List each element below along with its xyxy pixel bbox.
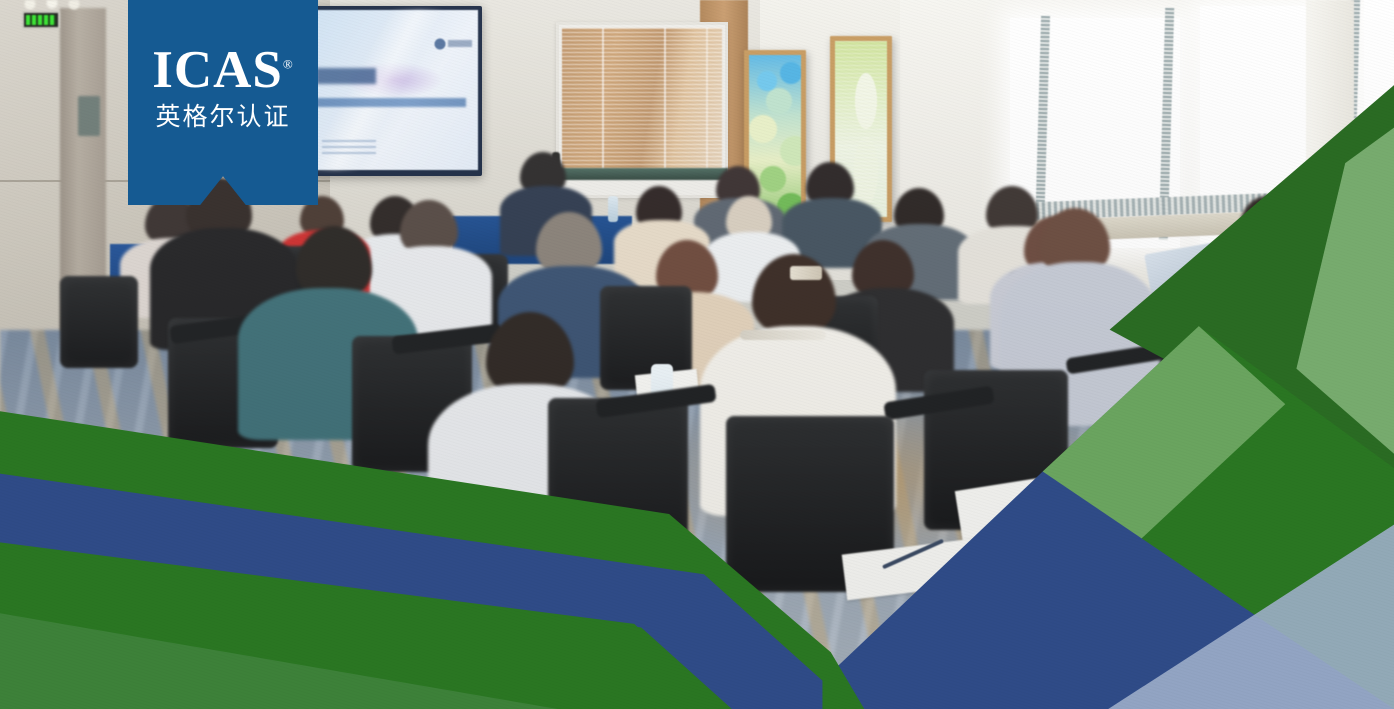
- slide-title-text: [316, 68, 376, 84]
- icas-wordmark: ICAS®: [128, 44, 318, 97]
- icas-wordmark-text: ICAS: [152, 41, 283, 99]
- exit-sign-icon: [22, 11, 60, 29]
- banner-stage: ICAS® 英格尔认证: [0, 0, 1394, 709]
- door-handle: [78, 96, 100, 136]
- window-blinds: [562, 28, 722, 176]
- person-body: [1294, 306, 1394, 442]
- water-bottle: [146, 536, 160, 570]
- collar-detail: [740, 330, 826, 340]
- water-bottle: [608, 196, 618, 222]
- wall-column-right: [1306, 0, 1354, 250]
- icas-chinese-name: 英格尔认证: [128, 104, 318, 129]
- hair-clip: [790, 266, 822, 280]
- icas-logo-block: ICAS® 英格尔认证: [128, 0, 318, 205]
- slide-subtitle-text: [316, 98, 466, 107]
- registered-trademark-icon: ®: [283, 56, 294, 71]
- slide-footer-text: [322, 140, 376, 154]
- chair: [60, 276, 138, 368]
- chair: [548, 398, 688, 558]
- window-sill: [556, 168, 728, 180]
- slide-logo-icon: [434, 38, 474, 50]
